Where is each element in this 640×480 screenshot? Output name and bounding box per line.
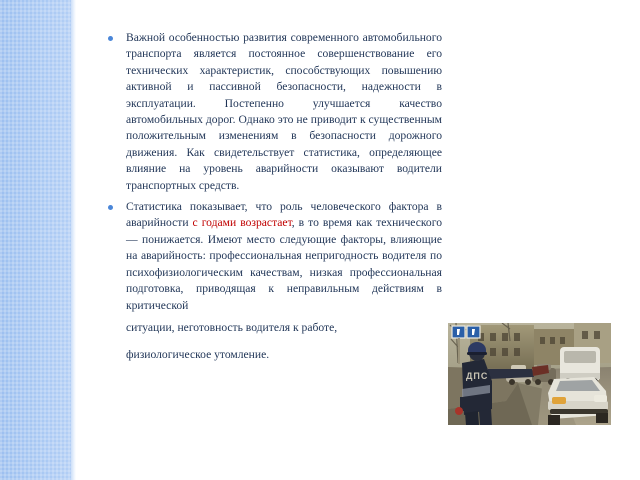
left-band-edge [71,0,76,480]
bullet-paragraph-1: Важной особенностью развития современног… [106,30,616,194]
presentation-slide: Важной особенностью развития современног… [0,0,640,480]
traffic-police-photo-graphic: ДПС [448,323,611,425]
bullet-2-after-text: , в то время как технического — понижает… [126,216,442,311]
headlight [552,397,566,404]
traffic-police-photo: ДПС [448,323,611,425]
bullet-2-highlight-text: с годами возрастает [193,216,292,229]
left-decorative-band [0,0,71,480]
uniform-dps-lettering: ДПС [466,371,488,381]
signal-disc [455,407,463,415]
